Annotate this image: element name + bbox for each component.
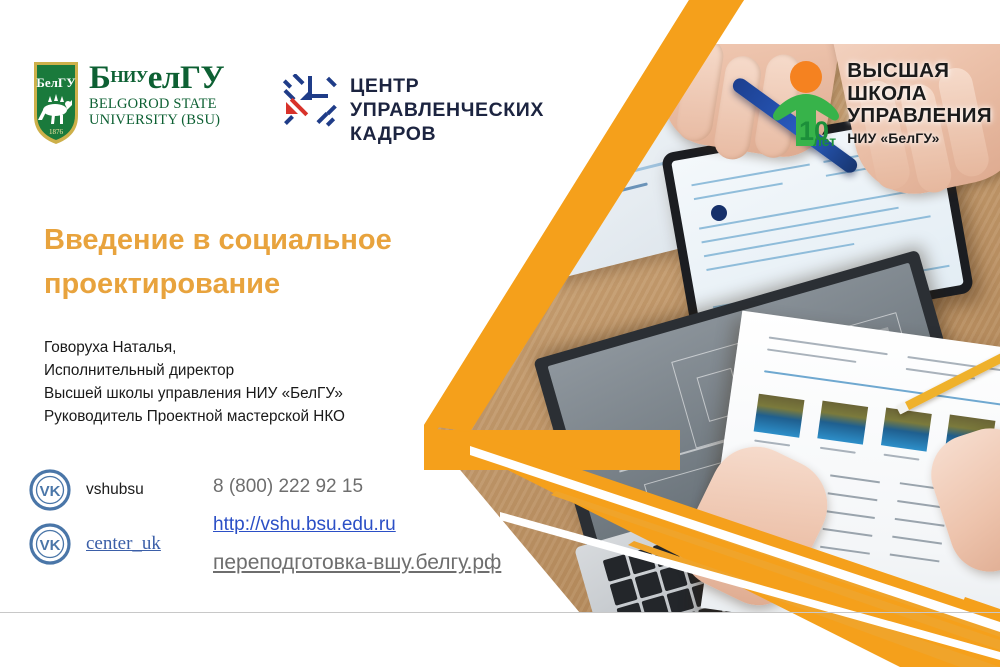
vk-accounts-column: VK vshubsu VK center_uk — [28, 458, 213, 582]
vk-handle-vshubsu[interactable]: vshubsu — [86, 481, 144, 499]
phone-number: 8 (800) 222 92 15 — [213, 468, 501, 506]
svg-text:VK: VK — [40, 537, 61, 554]
cuk-line-3: КАДРОВ — [350, 122, 544, 146]
author-block: Говоруха Наталья, Исполнительный директо… — [44, 336, 444, 428]
svg-text:VK: VK — [40, 483, 61, 500]
shield-name: БелГУ — [36, 75, 76, 90]
vk-icon[interactable]: VK — [28, 522, 72, 566]
vshu-figure-icon: 10 лет — [769, 58, 843, 150]
bsu-name-ru-b: Б — [89, 60, 110, 96]
bsu-wordmark: БНИУелГУ BELGOROD STATE UNIVERSITY (BSU) — [89, 60, 224, 128]
vk-account-row[interactable]: VK center_uk — [28, 517, 213, 571]
website-link[interactable]: http://vshu.bsu.edu.ru — [213, 506, 501, 544]
cuk-line-1: ЦЕНТР — [350, 74, 544, 98]
contacts-block: VK vshubsu VK center_uk 8 (800) 222 92 1… — [28, 458, 628, 582]
figure-head — [790, 61, 822, 93]
vshu-wordmark: ВЫСШАЯ ШКОЛА УПРАВЛЕНИЯ НИУ «БелГУ» — [847, 60, 992, 148]
bsu-name-en-line1: BELGOROD STATE — [89, 96, 224, 112]
cuk-logo: ЦЕНТР УПРАВЛЕНЧЕСКИХ КАДРОВ — [282, 74, 544, 146]
bsu-name-ru-rest: ел — [148, 60, 180, 96]
bsu-name-ru-tail: ГУ — [180, 60, 224, 96]
vshu-badge: 10 лет ВЫСШАЯ ШКОЛА УПРАВЛЕНИЯ НИУ «БелГ… — [769, 58, 992, 150]
author-role: Исполнительный директор — [44, 359, 444, 382]
red-arrow — [286, 98, 308, 116]
bsu-niu-label: НИУ — [110, 67, 147, 86]
vk-icon[interactable]: VK — [28, 468, 72, 512]
shield-year: 1876 — [49, 128, 64, 136]
logo-row: БелГУ 1876 БНИУелГУ — [0, 0, 520, 180]
author-name: Говоруха Наталья, — [44, 336, 444, 359]
bsu-name-en-line2: UNIVERSITY (BSU) — [89, 112, 224, 128]
title-line-2: проектирование — [44, 262, 444, 306]
vshu-line-1: ВЫСШАЯ — [847, 60, 992, 83]
cuk-line-2: УПРАВЛЕНЧЕСКИХ — [350, 98, 544, 122]
vk-handle-center-uk[interactable]: center_uk — [86, 533, 161, 555]
bottom-divider — [0, 612, 1000, 613]
bsu-name-en: BELGOROD STATE UNIVERSITY (BSU) — [89, 96, 224, 128]
author-organization: Высшей школы управления НИУ «БелГУ» — [44, 382, 444, 405]
cuk-wordmark: ЦЕНТР УПРАВЛЕНЧЕСКИХ КАДРОВ — [350, 74, 544, 146]
anniversary-word: лет — [813, 133, 836, 149]
contact-info-column: 8 (800) 222 92 15 http://vshu.bsu.edu.ru… — [213, 458, 501, 582]
vshu-subtitle: НИУ «БелГУ» — [847, 129, 992, 148]
author-secondary-role: Руководитель Проектной мастерской НКО — [44, 405, 444, 428]
bsu-name-ru: БНИУелГУ — [89, 62, 224, 93]
presentation-slide: БелГУ 1876 БНИУелГУ — [0, 0, 1000, 667]
title-line-1: Введение в социальное — [44, 218, 444, 262]
vshu-line-3: УПРАВЛЕНИЯ — [847, 105, 992, 128]
converging-arrows-icon — [282, 74, 338, 130]
bsu-shield-emblem: БелГУ 1876 — [32, 60, 80, 146]
bsu-logo: БелГУ 1876 БНИУелГУ — [32, 60, 224, 146]
vk-account-row[interactable]: VK vshubsu — [28, 463, 213, 517]
vshu-line-2: ШКОЛА — [847, 83, 992, 106]
retraining-domain-link[interactable]: переподготовка-вшу.белгу.рф — [213, 544, 501, 582]
page-title: Введение в социальное проектирование — [44, 218, 444, 306]
